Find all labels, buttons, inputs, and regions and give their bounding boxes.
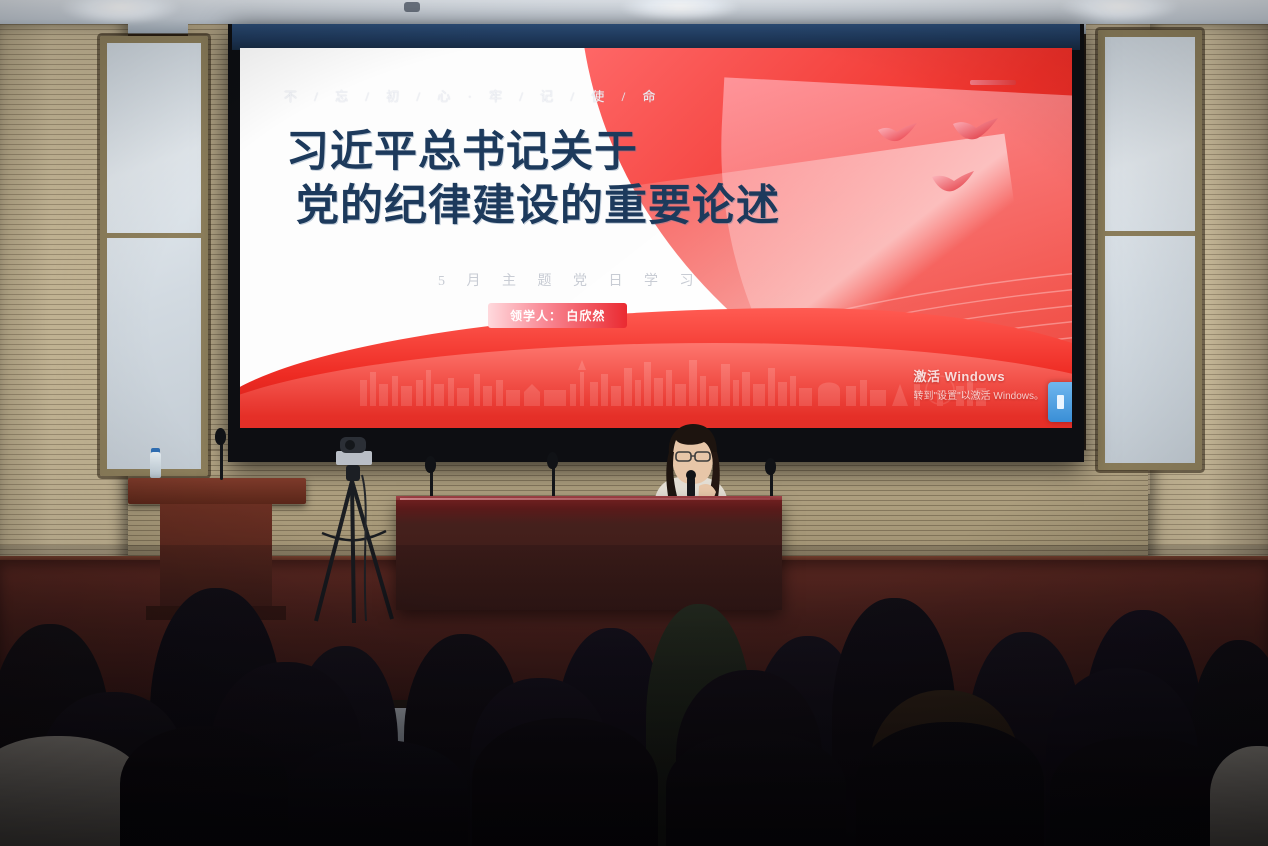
slide-watermark-text: 不 / 忘 / 初 / 心 · 牢 / 记 / 使 / 命: [284, 86, 663, 105]
lectern-microphone-head: [215, 428, 226, 445]
screen-valance: [232, 24, 1080, 50]
desk-microphone-head-center: [547, 452, 558, 469]
taskbar-chip-icon[interactable]: [1048, 382, 1072, 422]
audience-area: [0, 540, 1268, 846]
desk-microphone-head-right: [765, 458, 776, 475]
lecture-hall-photo: 不 / 忘 / 初 / 心 · 牢 / 记 / 使 / 命 习近平总书记关于 党…: [0, 0, 1268, 846]
activation-subtitle: 转到"设置"以激活 Windows。: [914, 387, 1044, 402]
window-mullion: [107, 233, 201, 238]
presenter-badge: 领学人： 白欣然: [488, 303, 627, 328]
audience-member: [472, 718, 658, 846]
window-left: [100, 36, 208, 476]
audience-member: [120, 726, 288, 846]
presentation-slide: 不 / 忘 / 初 / 心 · 牢 / 记 / 使 / 命 习近平总书记关于 党…: [240, 48, 1072, 428]
lectern-top: [128, 478, 306, 504]
window-right: [1098, 30, 1202, 470]
slide-title: 习近平总书记关于 党的纪律建设的重要论述: [286, 126, 986, 234]
water-bottle: [150, 452, 161, 478]
slide-title-line2: 党的纪律建设的重要论述: [296, 180, 986, 234]
slide-subtitle: 5 月 主 题 党 日 学 习: [438, 270, 703, 290]
audience-member: [856, 722, 1044, 846]
dash-accent: [970, 80, 1016, 85]
audience-member: [1050, 736, 1230, 846]
lectern-microphone-stem: [220, 440, 223, 480]
ceiling-camera: [404, 2, 420, 12]
audience-member: [288, 740, 468, 846]
activation-title: 激活 Windows: [914, 366, 1044, 385]
slide-title-line1: 习近平总书记关于: [286, 129, 638, 176]
projection-screen: 不 / 忘 / 初 / 心 · 牢 / 记 / 使 / 命 习近平总书记关于 党…: [240, 48, 1072, 428]
windows-activation-watermark: 激活 Windows 转到"设置"以激活 Windows。: [914, 366, 1044, 402]
window-mullion: [1105, 231, 1195, 236]
desk-microphone-head-left: [425, 456, 436, 473]
audience-member: [666, 732, 846, 846]
